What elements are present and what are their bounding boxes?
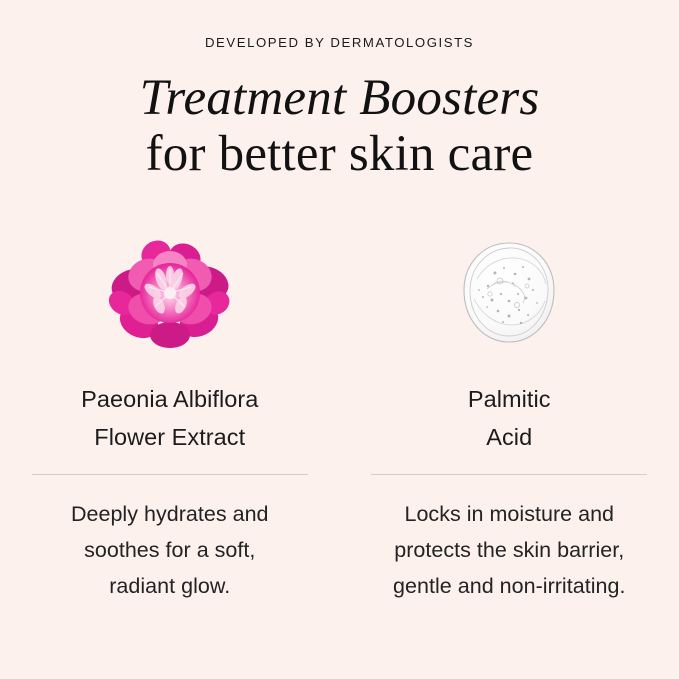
ingredient-name-palmitic-acid-line-2: Acid [486, 424, 532, 450]
ingredient-description-palmitic-acid-line-1: Locks in moisture and [404, 502, 614, 526]
ingredient-name-peony: Paeonia Albiflora Flower Extract [81, 380, 258, 456]
eyebrow-text: DEVELOPED BY DERMATOLOGISTS [0, 36, 679, 49]
clear-gel-droplet-image [429, 232, 589, 354]
ingredient-columns: Paeonia Albiflora Flower Extract Deeply … [0, 232, 679, 604]
ingredient-name-palmitic-acid: Palmitic Acid [468, 380, 551, 456]
peony-flower-image [90, 232, 250, 354]
divider-peony [32, 474, 308, 475]
header: DEVELOPED BY DERMATOLOGISTS Treatment Bo… [0, 36, 679, 184]
ingredient-description-palmitic-acid-line-3: gentle and non-irritating. [393, 574, 625, 598]
page-title: Treatment Boosters for better skin care [0, 70, 679, 184]
ingredient-column-palmitic-acid: Palmitic Acid Locks in moisture and prot… [340, 232, 679, 604]
ingredient-name-palmitic-acid-line-1: Palmitic [468, 386, 551, 412]
divider-palmitic-acid [371, 474, 647, 475]
headline-line-1: Treatment Boosters [0, 70, 679, 127]
product-ingredient-infographic: DEVELOPED BY DERMATOLOGISTS Treatment Bo… [0, 0, 679, 679]
ingredient-description-palmitic-acid-line-2: protects the skin barrier, [394, 538, 624, 562]
peony-flower-icon [109, 237, 231, 349]
ingredient-description-peony-line-3: radiant glow. [109, 574, 230, 598]
ingredient-description-palmitic-acid: Locks in moisture and protects the skin … [359, 497, 659, 604]
ingredient-column-peony: Paeonia Albiflora Flower Extract Deeply … [0, 232, 340, 604]
ingredient-name-peony-line-1: Paeonia Albiflora [81, 386, 258, 412]
gel-blob-icon [457, 237, 561, 349]
ingredient-description-peony-line-1: Deeply hydrates and [71, 502, 269, 526]
ingredient-description-peony-line-2: soothes for a soft, [84, 538, 255, 562]
ingredient-description-peony: Deeply hydrates and soothes for a soft, … [20, 497, 320, 604]
ingredient-name-peony-line-2: Flower Extract [94, 424, 245, 450]
headline-line-2: for better skin care [0, 125, 679, 184]
